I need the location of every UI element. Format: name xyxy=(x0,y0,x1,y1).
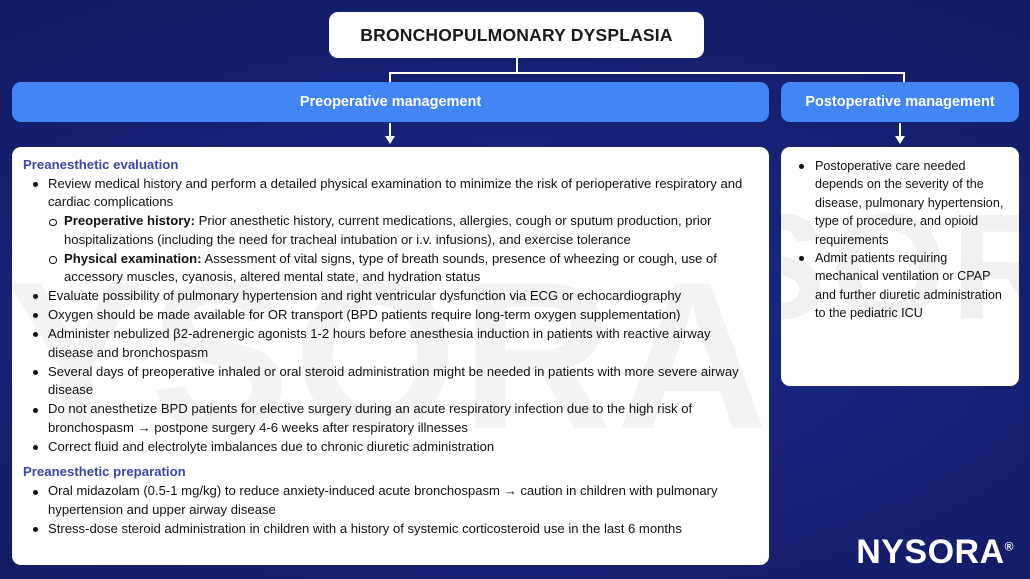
list-item: Administer nebulized β2-adrenergic agoni… xyxy=(29,325,758,362)
header-preoperative-management: Preoperative management xyxy=(12,82,769,122)
nysora-logo: NYSORA® xyxy=(856,535,1014,569)
list-item: Review medical history and perform a det… xyxy=(29,175,758,212)
sub-item-label: Physical examination: xyxy=(64,251,202,266)
list-item: Oral midazolam (0.5-1 mg/kg) to reduce a… xyxy=(29,482,758,519)
preanesthetic-evaluation-list-continued: Evaluate possibility of pulmonary hypert… xyxy=(29,287,758,457)
header-postoperative-management: Postoperative management xyxy=(781,82,1019,122)
list-item: Evaluate possibility of pulmonary hypert… xyxy=(29,287,758,306)
section-heading-preanesthetic-evaluation: Preanesthetic evaluation xyxy=(23,156,758,174)
arrow-down-postoperative-icon xyxy=(894,123,906,145)
registered-trademark-icon: ® xyxy=(1005,540,1014,554)
preoperative-content-panel: NYSORA© Preanesthetic evaluation Review … xyxy=(12,147,769,565)
logo-text: NYSORA xyxy=(856,533,1004,571)
flowchart-canvas: BRONCHOPULMONARY DYSPLASIA Preoperative … xyxy=(0,0,1030,579)
preanesthetic-evaluation-list: Review medical history and perform a det… xyxy=(29,175,758,212)
list-item: Stress-dose steroid administration in ch… xyxy=(29,520,758,539)
connector-horizontal xyxy=(389,72,905,74)
diagram-title-box: BRONCHOPULMONARY DYSPLASIA xyxy=(329,12,704,58)
list-item: Oxygen should be made available for OR t… xyxy=(29,306,758,325)
list-item: Admit patients requiring mechanical vent… xyxy=(795,249,1009,323)
list-item: Preoperative history: Prior anesthetic h… xyxy=(45,212,758,249)
preoperative-history-sublist: Preoperative history: Prior anesthetic h… xyxy=(45,212,758,286)
header-preoperative-label: Preoperative management xyxy=(294,94,487,110)
header-postoperative-label: Postoperative management xyxy=(799,94,1000,110)
preanesthetic-preparation-list: Oral midazolam (0.5-1 mg/kg) to reduce a… xyxy=(29,482,758,538)
postoperative-list: Postoperative care needed depends on the… xyxy=(795,157,1009,322)
arrow-down-preoperative-icon xyxy=(384,123,396,145)
list-item: Correct fluid and electrolyte imbalances… xyxy=(29,438,758,457)
postoperative-content-panel: NYSORA© Postoperative care needed depend… xyxy=(781,147,1019,386)
page-title: BRONCHOPULMONARY DYSPLASIA xyxy=(360,25,672,46)
list-item: Postoperative care needed depends on the… xyxy=(795,157,1009,249)
list-item: Physical examination: Assessment of vita… xyxy=(45,250,758,287)
sub-item-label: Preoperative history: xyxy=(64,213,195,228)
list-item: Do not anesthetize BPD patients for elec… xyxy=(29,400,758,437)
list-item: Several days of preoperative inhaled or … xyxy=(29,363,758,400)
section-heading-preanesthetic-preparation: Preanesthetic preparation xyxy=(23,463,758,481)
